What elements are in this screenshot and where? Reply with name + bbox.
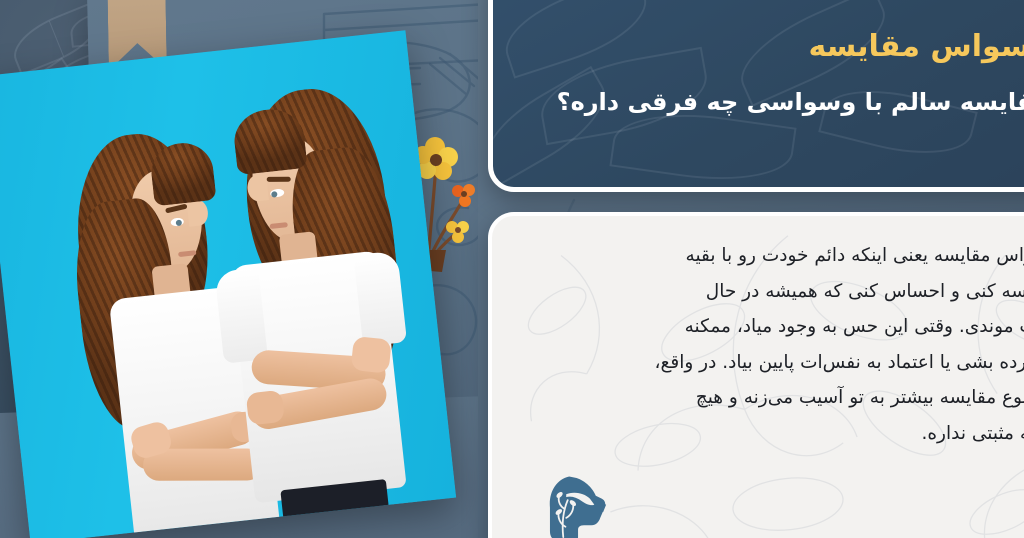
body-line: مقایسه کنی و احساس کنی که همیشه در حال	[518, 274, 1024, 310]
left-image-panel	[0, 0, 492, 538]
poster-root: وسواس مقایسه مقایسه سالم با وسواسی چه فر…	[0, 0, 1024, 538]
head-profile-plant-icon	[544, 475, 618, 538]
body-line: این نوع مقایسه بیشتر به تو آسیب می‌زنه و…	[518, 380, 1024, 416]
title-card: وسواس مقایسه مقایسه سالم با وسواسی چه فر…	[488, 0, 1024, 192]
body-line: افسرده بشی یا اعتماد به نفس‌ات پایین بیا…	[518, 345, 1024, 381]
page-subtitle: مقایسه سالم با وسواسی چه فرقی داره؟	[493, 87, 1024, 118]
body-line: عقب موندی. وقتی این حس به وجود میاد، ممک…	[518, 309, 1024, 345]
brand-logo: مشاورکده	[522, 475, 640, 538]
body-paragraph: وسواس مقایسه یعنی اینکه دائم خودت رو با …	[492, 216, 1024, 451]
body-line: وسواس مقایسه یعنی اینکه دائم خودت رو با …	[518, 238, 1024, 274]
page-title: وسواس مقایسه	[493, 29, 1024, 65]
body-line: نتیجه مثبتی نداره.	[518, 416, 1024, 452]
body-card: وسواس مقایسه یعنی اینکه دائم خودت رو با …	[488, 212, 1024, 538]
two-women-photo	[0, 30, 456, 538]
right-content-panel: وسواس مقایسه مقایسه سالم با وسواسی چه فر…	[478, 0, 1024, 538]
